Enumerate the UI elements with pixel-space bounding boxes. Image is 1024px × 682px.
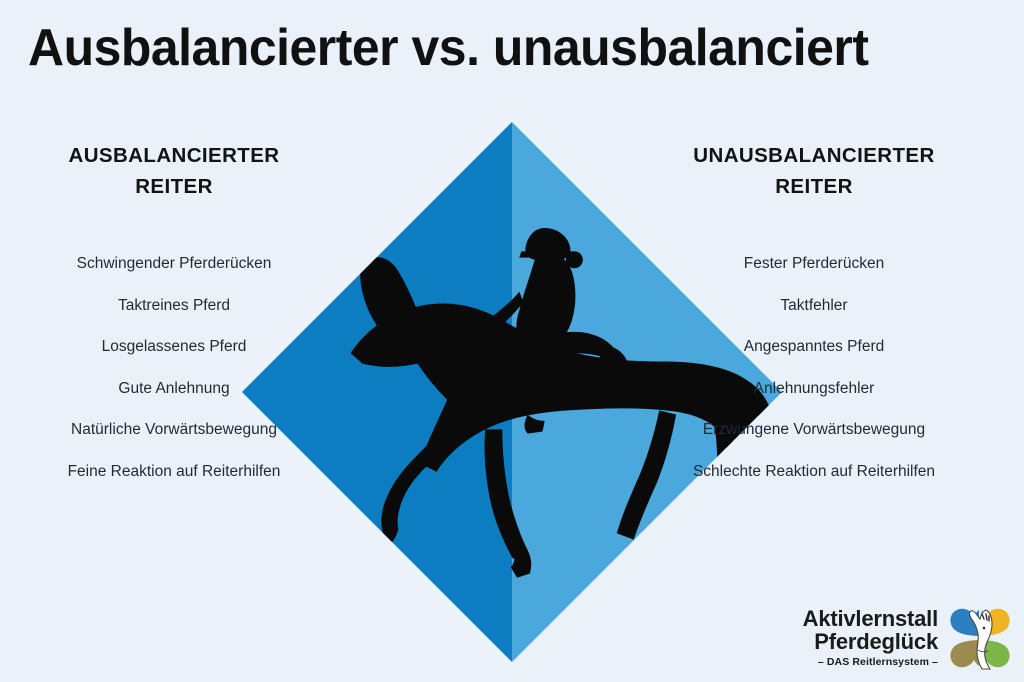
list-item: Losgelassenes Pferd [14,337,334,357]
brand-name-line2: Pferdeglück [803,630,938,653]
brand-logo: Aktivlernstall Pferdeglück – DAS Reitler… [808,600,1016,676]
right-heading-line1: UNAUSBALANCIERTER [654,140,974,171]
list-item: Taktreines Pferd [14,296,334,316]
list-item: Taktfehler [654,296,974,316]
brand-logo-text: Aktivlernstall Pferdeglück – DAS Reitler… [803,607,938,670]
list-item: Feine Reaktion auf Reiterhilfen [14,462,334,482]
right-column-list: Fester Pferderücken Taktfehler Angespann… [654,254,974,482]
brand-tagline: – DAS Reitlernsystem – [803,654,938,670]
list-item: Gute Anlehnung [14,379,334,399]
list-item: Schlechte Reaktion auf Reiterhilfen [654,462,974,482]
right-heading-line2: REITER [654,171,974,202]
clover-horse-head-icon [944,602,1016,674]
list-item: Angespanntes Pferd [654,337,974,357]
right-column-heading: UNAUSBALANCIERTER REITER [654,140,974,202]
left-heading-line2: REITER [14,171,334,202]
list-item: Fester Pferderücken [654,254,974,274]
list-item: Natürliche Vorwärtsbewegung [14,420,334,440]
list-item: Erzwungene Vorwärtsbewegung [654,420,974,440]
brand-name-line1: Aktivlernstall [803,607,938,630]
clover-petal-olive [950,640,979,667]
right-column: UNAUSBALANCIERTER REITER Fester Pferderü… [654,140,974,503]
left-heading-line1: AUSBALANCIERTER [14,140,334,171]
list-item: Schwingender Pferderücken [14,254,334,274]
infographic-canvas: Ausbalancierter vs. unausbalanciert [0,0,1024,682]
left-column: AUSBALANCIERTER REITER Schwingender Pfer… [14,140,334,503]
left-column-list: Schwingender Pferderücken Taktreines Pfe… [14,254,334,482]
list-item: Anlehnungsfehler [654,379,974,399]
left-column-heading: AUSBALANCIERTER REITER [14,140,334,202]
page-title: Ausbalancierter vs. unausbalanciert [28,18,950,78]
